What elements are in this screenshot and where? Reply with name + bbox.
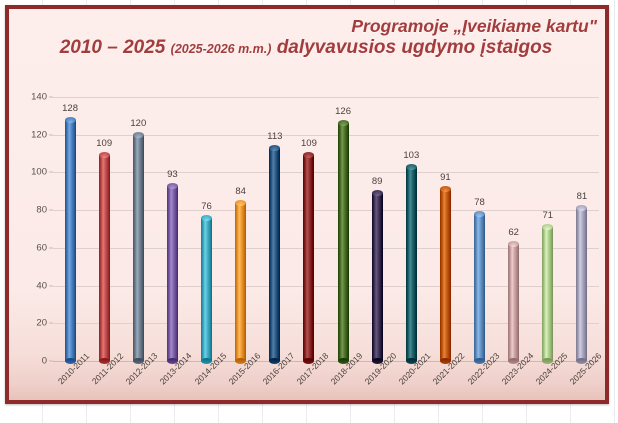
bar[interactable]: 120: [133, 135, 144, 361]
bar-body: [201, 218, 212, 361]
bar-value-label: 128: [62, 103, 78, 114]
bar-body: [235, 203, 246, 361]
x-axis-slot: 2023-2024: [497, 363, 531, 400]
bar-body: [65, 120, 76, 361]
bar-top-ellipse: [133, 132, 144, 138]
bar[interactable]: 128: [65, 120, 76, 361]
plot-area: 020406080100120140 128109120937684113109…: [53, 97, 599, 361]
bar-top-ellipse: [201, 215, 212, 221]
x-axis-slot: 2018-2019: [326, 363, 360, 400]
x-axis-slot: 2015-2016: [224, 363, 258, 400]
bar-slot: 113: [258, 97, 292, 361]
bar[interactable]: 109: [303, 155, 314, 361]
bar[interactable]: 78: [474, 214, 485, 361]
bar[interactable]: 103: [406, 167, 417, 361]
bar-top-ellipse: [372, 190, 383, 196]
x-axis-slot: 2019-2020: [360, 363, 394, 400]
bar-body: [133, 135, 144, 361]
y-axis-label: 60: [36, 242, 47, 253]
bar-body: [99, 155, 110, 361]
bar[interactable]: 109: [99, 155, 110, 361]
x-axis-slot: 2016-2017: [258, 363, 292, 400]
bar-body: [269, 148, 280, 361]
x-axis-slot: 2010-2011: [53, 363, 87, 400]
bar-value-label: 126: [335, 106, 351, 117]
bar-slot: 128: [53, 97, 87, 361]
y-axis-label: 0: [42, 356, 47, 367]
x-axis-slot: 2012-2013: [121, 363, 155, 400]
x-axis-slot: 2014-2015: [190, 363, 224, 400]
y-axis-label: 80: [36, 205, 47, 216]
chart-title-years: 2010 – 2025: [60, 37, 166, 58]
bar-slot: 71: [531, 97, 565, 361]
bar-value-label: 109: [301, 138, 317, 149]
bar-slot: 81: [565, 97, 599, 361]
bar-body: [338, 123, 349, 361]
bar-slot: 84: [224, 97, 258, 361]
y-axis-label: 140: [31, 92, 47, 103]
bar-value-label: 113: [267, 131, 282, 142]
bar-value-label: 62: [508, 227, 519, 238]
bar-body: [474, 214, 485, 361]
bar-top-ellipse: [235, 200, 246, 206]
bar-value-label: 93: [167, 169, 178, 180]
bar-value-label: 91: [440, 172, 451, 183]
y-axis-label: 120: [31, 129, 47, 140]
bar-value-label: 84: [235, 186, 246, 197]
x-axis-slot: 2025-2026: [565, 363, 599, 400]
x-axis-slot: 2013-2014: [155, 363, 189, 400]
bar-body: [542, 227, 553, 361]
bar-series: 128109120937684113109126891039178627181: [53, 97, 599, 361]
bar[interactable]: 76: [201, 218, 212, 361]
bar-slot: 126: [326, 97, 360, 361]
bar-slot: 76: [190, 97, 224, 361]
bar-body: [167, 186, 178, 361]
chart-title-schoolyear: (2025-2026 m.m.): [171, 42, 272, 56]
bar-value-label: 81: [577, 191, 588, 202]
bar-body: [440, 189, 451, 361]
bar-value-label: 78: [474, 197, 485, 208]
bar[interactable]: 89: [372, 193, 383, 361]
x-axis-slot: 2022-2023: [463, 363, 497, 400]
x-axis-slot: 2017-2018: [292, 363, 326, 400]
bar-body: [406, 167, 417, 361]
x-axis-slot: 2011-2012: [87, 363, 121, 400]
bar-slot: 103: [394, 97, 428, 361]
chart-title-line-1: Programoje „Įveikiame kartu": [19, 17, 597, 37]
bar[interactable]: 91: [440, 189, 451, 361]
bar-value-label: 71: [543, 210, 554, 221]
bar-value-label: 109: [96, 138, 112, 149]
chart-figure: Programoje „Įveikiame kartu" 2010 – 2025…: [5, 5, 609, 404]
chart-title-line-2: 2010 – 2025 (2025-2026 m.m.) dalyvavusio…: [19, 37, 597, 58]
bar[interactable]: 81: [576, 208, 587, 361]
bar-slot: 62: [497, 97, 531, 361]
bar[interactable]: 93: [167, 186, 178, 361]
bar-value-label: 120: [130, 118, 146, 129]
x-axis-slot: 2020-2021: [394, 363, 428, 400]
bar-value-label: 89: [372, 176, 383, 187]
bar-slot: 109: [87, 97, 121, 361]
bar-slot: 109: [292, 97, 326, 361]
bar-body: [372, 193, 383, 361]
bar-top-ellipse: [406, 164, 417, 170]
bar[interactable]: 126: [338, 123, 349, 361]
bar[interactable]: 84: [235, 203, 246, 361]
bar-top-ellipse: [474, 211, 485, 217]
bar-body: [303, 155, 314, 361]
chart-title-tail: dalyvavusios ugdymo įstaigos: [277, 37, 553, 58]
bar[interactable]: 113: [269, 148, 280, 361]
bar-top-ellipse: [167, 183, 178, 189]
x-axis-slot: 2021-2022: [428, 363, 462, 400]
bar-slot: 93: [155, 97, 189, 361]
bar-slot: 89: [360, 97, 394, 361]
x-axis-slot: 2024-2025: [531, 363, 565, 400]
chart-inner-canvas: Programoje „Įveikiame kartu" 2010 – 2025…: [9, 9, 605, 400]
bar-value-label: 76: [201, 201, 212, 212]
y-axis-label: 40: [36, 280, 47, 291]
bar-slot: 78: [463, 97, 497, 361]
bar[interactable]: 62: [508, 244, 519, 361]
x-axis-labels: 2010-20112011-20122012-20132013-20142014…: [53, 363, 599, 400]
bar-slot: 120: [121, 97, 155, 361]
bar[interactable]: 71: [542, 227, 553, 361]
bar-slot: 91: [428, 97, 462, 361]
bar-value-label: 103: [403, 150, 419, 161]
bar-top-ellipse: [65, 117, 76, 123]
bar-body: [508, 244, 519, 361]
y-axis-label: 100: [31, 167, 47, 178]
y-axis-label: 20: [36, 318, 47, 329]
bar-body: [576, 208, 587, 361]
chart-title: Programoje „Įveikiame kartu" 2010 – 2025…: [19, 17, 597, 58]
